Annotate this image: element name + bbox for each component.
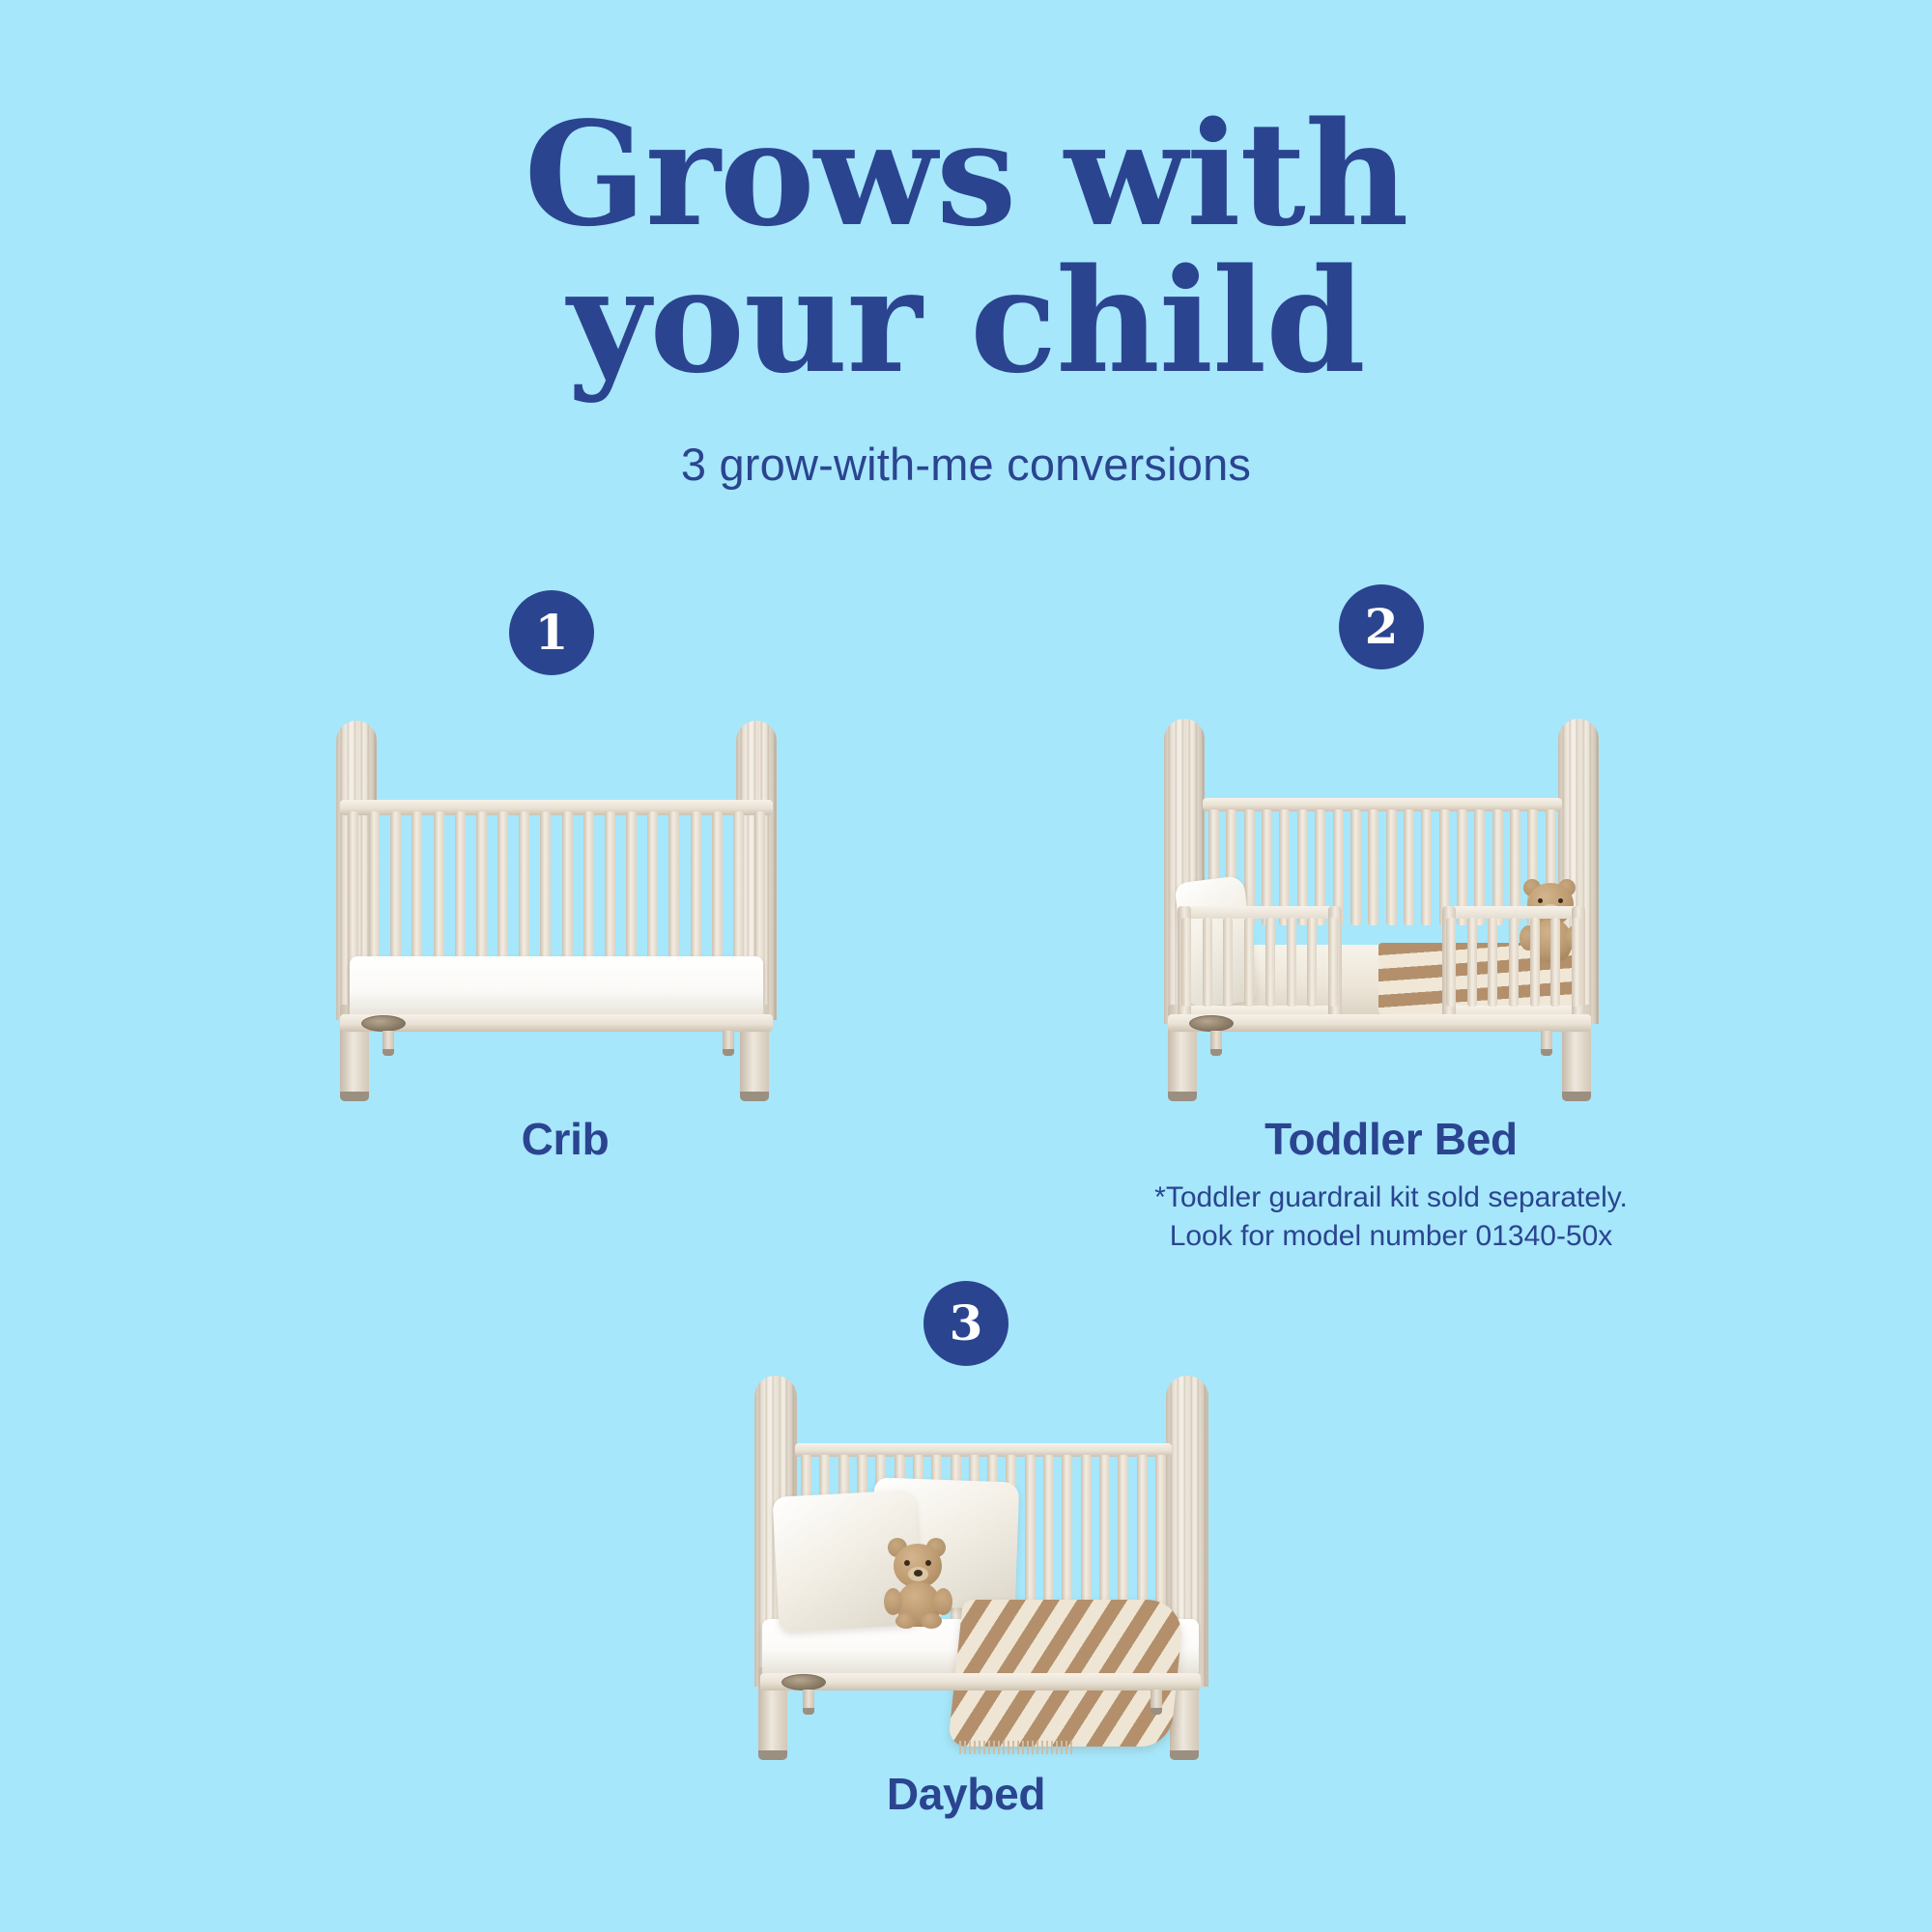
note-line-2: Look for model number 01340-50x (1092, 1217, 1690, 1256)
caption-title-daybed: Daybed (734, 1768, 1198, 1820)
guardrail-right-slats (1446, 918, 1581, 1007)
bear-nose (914, 1570, 923, 1577)
bear-eye-left (904, 1560, 910, 1566)
headline-line-1: Grows with (483, 100, 1449, 247)
bear-leg-left (895, 1613, 917, 1629)
toddler-guardrail-left (1178, 906, 1342, 1018)
daybed-center-peg-left (803, 1690, 814, 1715)
page-title: Grows with your child (483, 100, 1449, 395)
product-image-crib (319, 715, 811, 1101)
caption-note-toddler-bed: *Toddler guardrail kit sold separately. … (1092, 1179, 1690, 1256)
product-image-toddler-bed (1145, 715, 1618, 1101)
step-badge-1: 1 (509, 590, 594, 675)
bear-eye-right (925, 1560, 931, 1566)
note-line-1: *Toddler guardrail kit sold separately. (1092, 1179, 1690, 1217)
daybed-bottom-rail (760, 1673, 1201, 1690)
page-subtitle: 3 grow-with-me conversions (0, 438, 1932, 491)
toddler-guardrail-right (1442, 906, 1585, 1018)
bear-arm-right (934, 1588, 952, 1615)
guardrail-left-slats (1181, 918, 1338, 1007)
bear-leg-right (921, 1613, 942, 1629)
headline-line-2: your child (483, 247, 1449, 394)
brand-logo-plate (361, 1015, 406, 1032)
step-badge-3: 3 (923, 1281, 1009, 1366)
daybed-teddy-bear (882, 1538, 957, 1631)
caption-title-crib: Crib (333, 1113, 797, 1165)
caption-daybed: Daybed (734, 1768, 1198, 1820)
brand-logo-plate (1189, 1015, 1234, 1032)
daybed-throw-fringe (959, 1741, 1075, 1754)
step-badge-2: 2 (1339, 584, 1424, 669)
crib-center-peg-right (723, 1031, 734, 1056)
header: Grows with your child 3 grow-with-me con… (0, 0, 1932, 491)
toddler-center-peg-right (1541, 1031, 1552, 1056)
daybed-center-peg-right (1151, 1690, 1162, 1715)
toddler-center-peg-left (1210, 1031, 1222, 1056)
product-image-daybed (720, 1372, 1222, 1758)
caption-title-toddler-bed: Toddler Bed (1092, 1113, 1690, 1165)
crib-center-peg-left (383, 1031, 394, 1056)
crib-mattress (350, 956, 763, 1018)
bear-eye-left (1538, 898, 1543, 903)
bear-eye-right (1558, 898, 1563, 903)
caption-crib: Crib (333, 1113, 797, 1165)
brand-logo-plate (781, 1674, 826, 1690)
bear-arm-left (884, 1588, 902, 1615)
caption-toddler-bed: Toddler Bed *Toddler guardrail kit sold … (1092, 1113, 1690, 1256)
